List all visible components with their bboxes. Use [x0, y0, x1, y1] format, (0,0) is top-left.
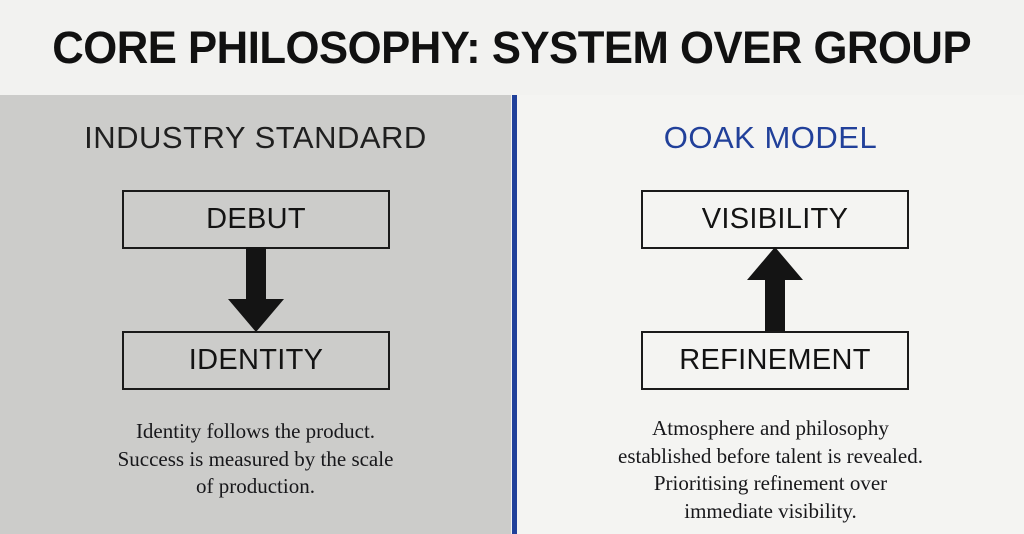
caption-line: Identity follows the product. — [0, 418, 511, 446]
arrow-up-icon — [746, 247, 804, 333]
node-box-refinement[interactable]: REFINEMENT — [641, 331, 909, 390]
node-label-refinement: REFINEMENT — [679, 346, 871, 375]
caption-line: established before talent is revealed. — [517, 443, 1024, 471]
caption-line: of production. — [0, 473, 511, 501]
comparison-panels: INDUSTRY STANDARD DEBUT IDENTITY Identit… — [0, 95, 1024, 534]
node-label-visibility: VISIBILITY — [702, 205, 848, 234]
caption-line: immediate visibility. — [517, 498, 1024, 526]
panel-heading-industry-standard: INDUSTRY STANDARD — [0, 122, 511, 153]
title-bar: CORE PHILOSOPHY: SYSTEM OVER GROUP — [0, 0, 1024, 95]
node-box-identity[interactable]: IDENTITY — [122, 331, 390, 390]
caption-line: Success is measured by the scale — [0, 446, 511, 474]
node-box-visibility[interactable]: VISIBILITY — [641, 190, 909, 249]
panel-heading-ooak-model: OOAK MODEL — [517, 122, 1024, 153]
caption-ooak-model: Atmosphere and philosophy established be… — [517, 415, 1024, 526]
node-label-identity: IDENTITY — [189, 346, 324, 375]
panel-industry-standard: INDUSTRY STANDARD DEBUT IDENTITY Identit… — [0, 95, 511, 534]
caption-industry-standard: Identity follows the product. Success is… — [0, 418, 511, 501]
slide-root: CORE PHILOSOPHY: SYSTEM OVER GROUP INDUS… — [0, 0, 1024, 534]
page-title: CORE PHILOSOPHY: SYSTEM OVER GROUP — [53, 25, 972, 70]
panel-ooak-model: OOAK MODEL VISIBILITY REFINEMENT Atmosph… — [517, 95, 1024, 534]
arrow-down-icon — [227, 247, 285, 333]
caption-line: Atmosphere and philosophy — [517, 415, 1024, 443]
caption-line: Prioritising refinement over — [517, 470, 1024, 498]
node-label-debut: DEBUT — [206, 205, 306, 234]
node-box-debut[interactable]: DEBUT — [122, 190, 390, 249]
